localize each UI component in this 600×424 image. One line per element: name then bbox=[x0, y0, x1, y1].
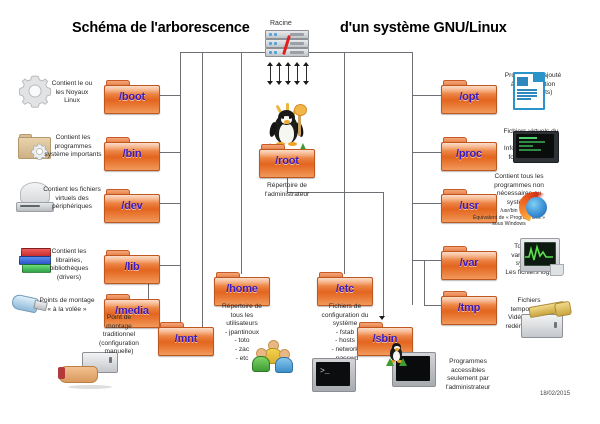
folder-lib[interactable]: /lib bbox=[104, 250, 160, 284]
folder-label: /lib bbox=[104, 261, 160, 273]
folder-home[interactable]: /home bbox=[214, 272, 270, 306]
server-rack-icon bbox=[263, 30, 309, 61]
folder-label: /sbin bbox=[357, 333, 413, 345]
terminal-icon: >_ bbox=[312, 358, 354, 390]
folder-opt[interactable]: /opt bbox=[441, 80, 497, 114]
stub-var bbox=[412, 260, 441, 261]
sbin-drop bbox=[383, 192, 384, 317]
folder-etc[interactable]: /etc bbox=[317, 272, 373, 306]
arrows-down-group bbox=[265, 72, 309, 86]
var-tmp-drop bbox=[424, 260, 425, 305]
stub-usr bbox=[412, 203, 441, 204]
folder-label: /bin bbox=[104, 148, 160, 160]
stub-proc bbox=[412, 152, 441, 153]
caption-sbin: Programmes accessibles seulement par l'a… bbox=[432, 358, 504, 392]
caption-mnt: Point de montage traditionnel (configura… bbox=[86, 314, 152, 357]
hand-harddisk-icon bbox=[58, 352, 118, 392]
folder-label: /boot bbox=[104, 91, 160, 103]
etc-drop bbox=[344, 52, 345, 274]
home-drop bbox=[241, 52, 242, 274]
folder-boot[interactable]: /boot bbox=[104, 80, 160, 114]
folder-label: /tmp bbox=[441, 302, 497, 314]
folder-label: /dev bbox=[104, 200, 160, 212]
document-icon bbox=[513, 72, 543, 108]
folder-label: /root bbox=[259, 155, 315, 167]
folder-root[interactable]: /root bbox=[259, 144, 315, 178]
firefox-icon bbox=[519, 190, 553, 224]
folder-label: /usr bbox=[441, 200, 497, 212]
terminal-tux-icon bbox=[386, 352, 434, 388]
folder-label: /var bbox=[441, 257, 497, 269]
arrows-up-group bbox=[265, 62, 309, 72]
folder-label: /etc bbox=[317, 283, 373, 295]
folder-label: /home bbox=[214, 283, 270, 295]
caption-dev: Contient les fichiers virtuels des périp… bbox=[32, 186, 112, 212]
caption-bin: Contient les programmes système importan… bbox=[36, 134, 110, 160]
caption-boot: Contient le ou les Noyaux Linux bbox=[36, 80, 108, 106]
root-node-label: Racine bbox=[270, 20, 292, 27]
mnt-spine bbox=[202, 52, 203, 337]
folder-tmp[interactable]: /tmp bbox=[441, 291, 497, 325]
broom-harddisk-icon bbox=[517, 300, 573, 340]
folder-var[interactable]: /var bbox=[441, 246, 497, 280]
page-title-right: d'un système GNU/Linux bbox=[340, 20, 507, 36]
folder-proc[interactable]: /proc bbox=[441, 137, 497, 171]
users-group-icon bbox=[252, 340, 294, 372]
caption-media: Points de montage « à la volée » bbox=[28, 297, 106, 314]
folder-dev[interactable]: /dev bbox=[104, 189, 160, 223]
system-monitor-icon bbox=[520, 238, 562, 276]
diagram-canvas: Schéma de l'arborescence d'un système GN… bbox=[0, 0, 600, 424]
folder-bin[interactable]: /bin bbox=[104, 137, 160, 171]
page-title-left: Schéma de l'arborescence bbox=[72, 20, 250, 36]
left-spine bbox=[180, 52, 181, 332]
folder-label: /mnt bbox=[158, 333, 214, 345]
folder-label: /media bbox=[104, 305, 160, 317]
console-icon bbox=[513, 131, 557, 161]
datestamp: 18/02/2015 bbox=[540, 391, 570, 397]
folder-label: /proc bbox=[441, 148, 497, 160]
caption-root: Répertoire de l'administrateur bbox=[245, 182, 329, 199]
stub-opt bbox=[412, 95, 441, 96]
folder-label: /opt bbox=[441, 91, 497, 103]
caption-lib: Contient les librairies, bibliothèques (… bbox=[34, 248, 104, 282]
stub-tmp bbox=[424, 305, 441, 306]
right-spine bbox=[412, 52, 413, 305]
